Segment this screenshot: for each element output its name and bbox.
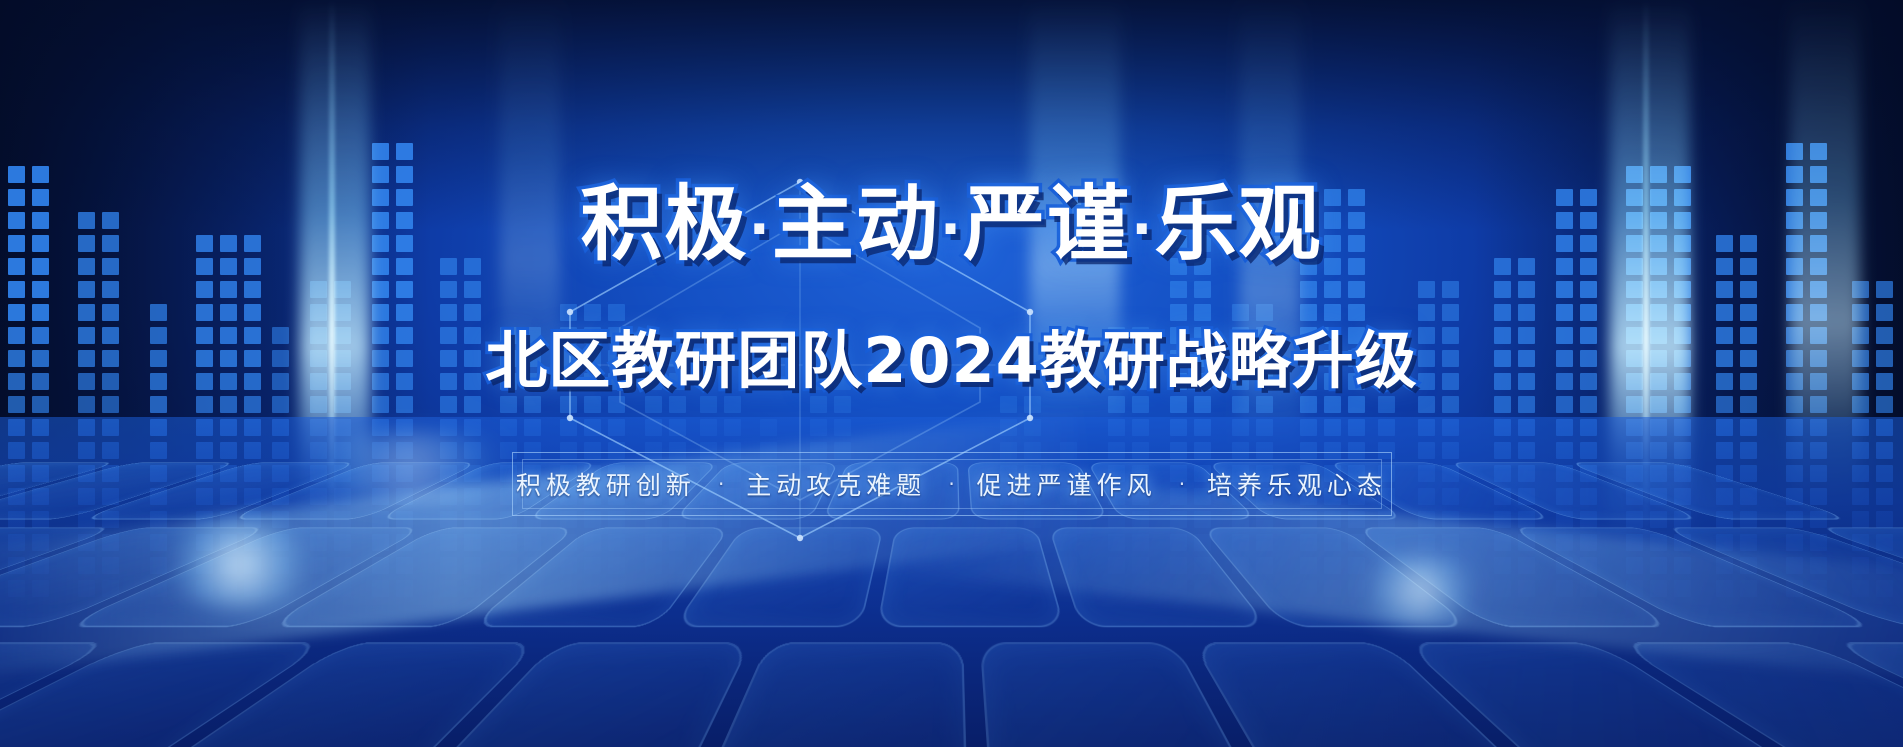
tagline-bar: 积极教研创新·主动攻克难题·促进严谨作风·培养乐观心态 — [512, 452, 1392, 516]
title-word: 严谨 — [963, 177, 1131, 272]
tagline-item: 主动攻克难题 — [746, 466, 926, 502]
banner-subtitle: 北区教研团队2024教研战略升级 — [0, 330, 1903, 392]
title-separator: · — [1131, 197, 1154, 262]
title-word: 积极 — [581, 177, 749, 272]
title-separator: · — [749, 197, 772, 262]
title-word: 主动 — [772, 177, 940, 272]
tagline-separator: · — [1179, 472, 1185, 496]
title-separator: · — [940, 197, 963, 262]
tagline-text: 积极教研创新·主动攻克难题·促进严谨作风·培养乐观心态 — [512, 452, 1392, 516]
title-word: 乐观 — [1154, 177, 1322, 272]
tagline-item: 培养乐观心态 — [1207, 466, 1387, 502]
tagline-item: 促进严谨作风 — [977, 466, 1157, 502]
tagline-separator: · — [948, 472, 954, 496]
banner-main-title: 积极·主动·严谨·乐观 — [0, 184, 1903, 266]
banner-content: 积极·主动·严谨·乐观 北区教研团队2024教研战略升级 积极教研创新·主动攻克… — [0, 0, 1903, 747]
tagline-item: 积极教研创新 — [516, 466, 696, 502]
banner-canvas: 积极·主动·严谨·乐观 北区教研团队2024教研战略升级 积极教研创新·主动攻克… — [0, 0, 1903, 747]
tagline-separator: · — [718, 472, 724, 496]
